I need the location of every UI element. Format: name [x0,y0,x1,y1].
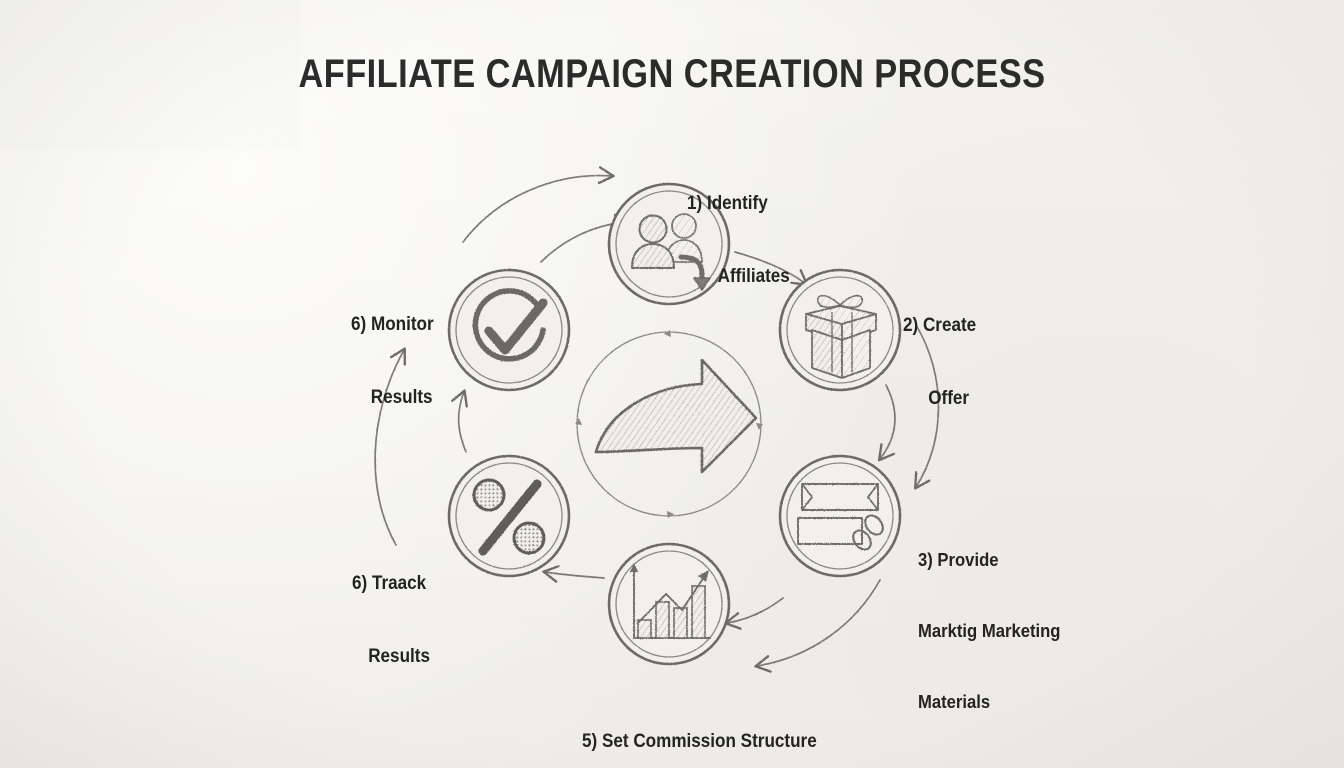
node-set-commission-structure[interactable] [609,544,729,664]
label-line-3: Materials [918,690,1060,714]
arrow-track-to-monitor [459,392,466,452]
node-label-monitor-results: 6) Monitor Results [351,264,434,459]
arrow-outer-bottom-right [757,580,880,666]
diagram-canvas: AFFILIATE CAMPAIGN CREATION PROCESS 1) I… [0,0,1344,768]
node-create-offer[interactable] [780,270,900,390]
label-line-1: 2) Create [903,314,976,338]
label-line-2: Results [352,645,430,669]
page-title: AFFILIATE CAMPAIGN CREATION PROCESS [94,52,1250,97]
label-line-1: 5) Set Commission Structure [582,730,817,754]
process-diagram [0,0,1344,768]
node-track-results[interactable] [449,456,569,576]
arrow-create-to-provide [880,385,895,459]
label-line-2: Offer [903,387,976,411]
node-monitor-results[interactable] [449,270,569,390]
label-line-1: 6) Monitor [351,313,434,337]
node-provide-marketing-materials[interactable] [780,456,900,576]
label-line-2: Marktig Marketing [918,619,1060,643]
node-label-create-offer: 2) Create Offer [903,265,976,460]
node-label-track-results: 6) Traack Results [352,523,430,718]
center-curved-arrow-icon [596,360,756,472]
node-label-identify-affiliates: 1) Identify Affiliates [687,143,790,338]
arrow-commission-to-track [545,572,604,578]
arrow-provide-to-commission [727,598,783,623]
label-line-2: Results [351,386,434,410]
label-line-1: 1) Identify [687,192,790,216]
label-line-2: Affiliates [687,265,790,289]
label-line-1: 3) Provide [918,548,1060,572]
node-label-provide-marketing-materials: 3) Provide Marktig Marketing Materials [918,501,1060,761]
node-label-set-commission-structure: 5) Set Commission Structure [582,681,817,768]
label-line-1: 6) Traack [352,572,430,596]
arrow-outer-upper-left [463,176,612,242]
